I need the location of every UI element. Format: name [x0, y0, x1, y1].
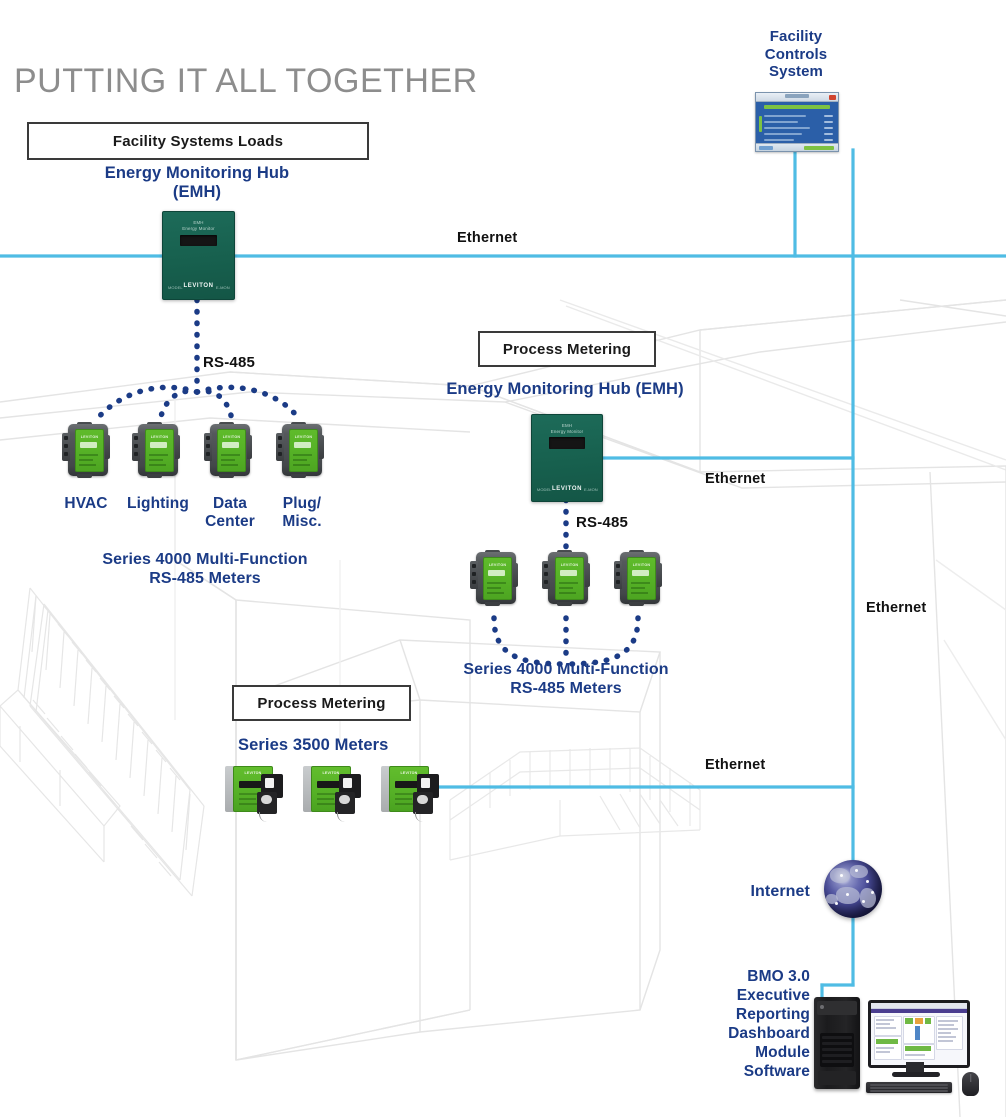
- meter-faceplate: LEVITON: [75, 429, 104, 472]
- monitor-screen[interactable]: [868, 1000, 970, 1068]
- meter-faceplate: LEVITON: [289, 429, 318, 472]
- close-icon[interactable]: [829, 95, 836, 100]
- app-navbar: [871, 1009, 967, 1013]
- footer-status-bar: [804, 146, 834, 150]
- ethernet-label-top: Ethernet: [457, 230, 517, 246]
- series-4000-meter-data-center[interactable]: LEVITON: [204, 424, 252, 476]
- page-title: PUTTING IT ALL TOGETHER: [14, 62, 478, 101]
- desktop-tower[interactable]: [814, 997, 860, 1089]
- rs485-branch-plug: [197, 387, 300, 420]
- fcs-label-line-1: Facility: [736, 28, 856, 46]
- meter-connector-right: [319, 435, 324, 459]
- caption-line-2: RS-485 Meters: [60, 570, 350, 589]
- meter-brand: LEVITON: [489, 563, 507, 567]
- meter-connector-right: [657, 563, 662, 587]
- window-row: [764, 139, 794, 141]
- meter-brand: LEVITON: [561, 563, 579, 567]
- meter-faceplate: LEVITON: [483, 557, 512, 600]
- emh-display: [549, 437, 585, 448]
- window-row-value: [824, 121, 833, 123]
- meter-connector-left: [132, 433, 140, 461]
- series-4000-caption-left: Series 4000 Multi-Function RS-485 Meters: [60, 551, 350, 589]
- meter-bottom-tab: [147, 474, 162, 478]
- series-4000-meter-mid-2[interactable]: LEVITON: [542, 552, 590, 604]
- caption-line-2: RS-485 Meters: [432, 680, 700, 699]
- emh-label-left: Energy Monitoring Hub (EMH): [92, 164, 302, 203]
- meter-faceplate: LEVITON: [217, 429, 246, 472]
- window-titlebar: [756, 93, 838, 102]
- tower-base-panel: [818, 1071, 856, 1085]
- meter-connector-right: [513, 563, 518, 587]
- current-transformer-lower: [335, 792, 355, 814]
- rs485-loop-mid-left: [494, 618, 566, 664]
- ethernet-label-mid: Ethernet: [705, 471, 765, 487]
- diagram-canvas: PUTTING IT ALL TOGETHER Facility Control…: [0, 0, 1006, 1117]
- meter-bottom-tab: [557, 602, 572, 606]
- meter-label-plug-misc: Plug/ Misc.: [266, 495, 338, 532]
- meter-label-line-1: Data: [194, 495, 266, 513]
- monitor-stand-neck: [906, 1062, 924, 1072]
- meter-faceplate: LEVITON: [555, 557, 584, 600]
- window-header-bar: [764, 105, 830, 109]
- meter-connector-left: [614, 561, 622, 589]
- caption-line-1: Series 4000 Multi-Function: [432, 661, 700, 680]
- meter-bottom-tab: [485, 602, 500, 606]
- meter-label-lighting: Lighting: [118, 495, 198, 513]
- monitor-stand-base: [892, 1072, 940, 1077]
- meter-display: [317, 781, 341, 788]
- meter-faceplate: LEVITON: [627, 557, 656, 600]
- meter-connector-left: [276, 433, 284, 461]
- meter-connector-right: [175, 435, 180, 459]
- meter-brand: LEVITON: [633, 563, 651, 567]
- emh-brand-top: EMHEnergy Monitor: [532, 423, 602, 436]
- facility-controls-system-label: Facility Controls System: [736, 28, 856, 81]
- energy-monitoring-hub-left[interactable]: EMHEnergy Monitor MODEL LEVITON E-MON: [162, 211, 235, 300]
- bmo-label-line-1: BMO 3.0: [700, 968, 810, 987]
- series-3500-meter-2[interactable]: LEVITON: [303, 762, 369, 824]
- bmo-label-line-4: Dashboard: [700, 1025, 810, 1044]
- meter-display: [294, 442, 311, 448]
- meter-display: [560, 570, 577, 576]
- window-row: [764, 127, 810, 129]
- meter-connector-right: [247, 435, 252, 459]
- series-4000-caption-mid: Series 4000 Multi-Function RS-485 Meters: [432, 661, 700, 699]
- process-metering-box-lower: Process Metering: [232, 685, 411, 721]
- meter-brand: LEVITON: [295, 435, 313, 439]
- current-transformer-lower: [413, 792, 433, 814]
- rs485-branch-lighting: [160, 391, 197, 420]
- caption-line-1: Series 4000 Multi-Function: [60, 551, 350, 570]
- meter-label-data-center: Data Center: [194, 495, 266, 532]
- meter-brand: LEVITON: [323, 771, 340, 775]
- window-row-value: [824, 127, 833, 129]
- process-metering-box-upper: Process Metering: [478, 331, 656, 367]
- window-body: [756, 102, 838, 144]
- ct-lead-wire: [337, 812, 352, 822]
- meter-brand: LEVITON: [245, 771, 262, 775]
- meter-label-line-2: Misc.: [266, 513, 338, 531]
- window-row-value: [824, 133, 833, 135]
- rs485-label-left: RS-485: [203, 354, 255, 371]
- series-4000-meter-plug-misc[interactable]: LEVITON: [276, 424, 324, 476]
- rs485-branch-hvac: [96, 387, 197, 420]
- emh-label-left-line-2: (EMH): [92, 183, 302, 202]
- bmo-label-line-3: Reporting: [700, 1006, 810, 1025]
- globe-icon[interactable]: [824, 860, 882, 918]
- window-row: [764, 121, 798, 123]
- meter-bottom-tab: [629, 602, 644, 606]
- meter-brand: LEVITON: [151, 435, 169, 439]
- meter-label-line-2: Center: [194, 513, 266, 531]
- meter-brand: LEVITON: [81, 435, 99, 439]
- bmo-label-line-6: Software: [700, 1063, 810, 1082]
- fcs-label-line-2: Controls: [736, 46, 856, 64]
- meter-brand: LEVITON: [223, 435, 241, 439]
- meter-label-hvac: HVAC: [50, 495, 122, 513]
- series-3500-caption: Series 3500 Meters: [238, 736, 468, 755]
- series-4000-meter-lighting[interactable]: LEVITON: [132, 424, 180, 476]
- emh-brand-top: EMHEnergy Monitor: [163, 220, 234, 233]
- series-4000-meter-mid-3[interactable]: LEVITON: [614, 552, 662, 604]
- meter-connector-left: [542, 561, 550, 589]
- emh-port: [194, 298, 203, 300]
- window-row: [764, 115, 806, 117]
- meter-display: [239, 781, 263, 788]
- emh-label-left-line-1: Energy Monitoring Hub: [92, 164, 302, 183]
- series-3500-meter-3[interactable]: LEVITON: [381, 762, 447, 824]
- internet-label: Internet: [700, 883, 810, 902]
- mouse[interactable]: [962, 1072, 979, 1096]
- emh-text-right: E-MON: [584, 487, 598, 492]
- emh-text-right: E-MON: [216, 285, 230, 290]
- keyboard[interactable]: [866, 1082, 952, 1093]
- window-row-value: [824, 139, 833, 141]
- energy-monitoring-hub-mid[interactable]: EMHEnergy Monitor MODEL LEVITON E-MON: [531, 414, 603, 502]
- series-4000-meter-mid-1[interactable]: LEVITON: [470, 552, 518, 604]
- window-title-placeholder: [785, 94, 809, 98]
- ethernet-label-bottom: Ethernet: [705, 757, 765, 773]
- meter-brand: LEVITON: [401, 771, 418, 775]
- meter-connector-right: [585, 563, 590, 587]
- meter-display: [395, 781, 419, 788]
- meter-display: [222, 442, 239, 448]
- window-footer: [756, 143, 838, 151]
- meter-display: [488, 570, 505, 576]
- tower-drive-bay: [817, 1001, 857, 1015]
- footer-button[interactable]: [759, 146, 773, 150]
- facility-controls-window-icon[interactable]: [755, 92, 839, 152]
- series-3500-meter-1[interactable]: LEVITON: [225, 762, 291, 824]
- emh-label-mid: Energy Monitoring Hub (EMH): [428, 380, 702, 399]
- ct-lead-wire: [259, 812, 274, 822]
- fcs-label-line-3: System: [736, 63, 856, 81]
- emh-display: [180, 235, 217, 246]
- meter-display: [80, 442, 97, 448]
- ct-lead-wire: [415, 812, 430, 822]
- bmo-software-label: BMO 3.0 Executive Reporting Dashboard Mo…: [700, 968, 810, 1081]
- meter-display: [150, 442, 167, 448]
- ethernet-label-trunk: Ethernet: [866, 600, 926, 616]
- rs485-loop-mid-right: [566, 618, 638, 664]
- bmo-label-line-5: Module: [700, 1044, 810, 1063]
- meter-faceplate: LEVITON: [145, 429, 174, 472]
- rs485-label-mid: RS-485: [576, 514, 628, 531]
- current-transformer-lower: [257, 792, 277, 814]
- bmo-label-line-2: Executive: [700, 987, 810, 1006]
- meter-bottom-tab: [77, 474, 92, 478]
- meter-connector-right: [105, 435, 110, 459]
- meter-connector-left: [62, 433, 70, 461]
- meter-connector-left: [470, 561, 478, 589]
- meter-display: [632, 570, 649, 576]
- meter-bottom-tab: [291, 474, 306, 478]
- window-row: [764, 133, 802, 135]
- meter-connector-left: [204, 433, 212, 461]
- selection-indicator: [759, 116, 762, 132]
- meter-bottom-tab: [219, 474, 234, 478]
- series-4000-meter-hvac[interactable]: LEVITON: [62, 424, 110, 476]
- facility-systems-loads-box: Facility Systems Loads: [27, 122, 369, 160]
- emh-port: [563, 500, 572, 502]
- window-row-value: [824, 115, 833, 117]
- rs485-branch-datacenter: [197, 391, 232, 420]
- tower-vent-grille: [820, 1033, 854, 1067]
- meter-label-line-1: Plug/: [266, 495, 338, 513]
